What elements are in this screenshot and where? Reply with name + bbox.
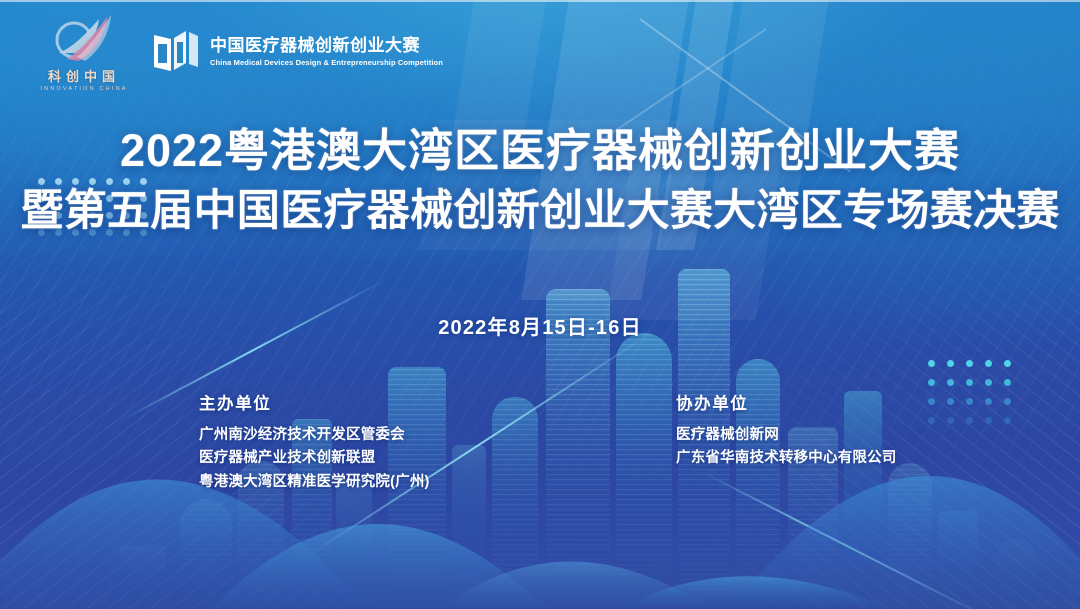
poster-canvas: 科创中国 INNOVATION CHINA 中国医疗器械创新创业大赛 China… bbox=[0, 0, 1080, 609]
logo-kechuang-en: INNOVATION CHINA bbox=[40, 86, 127, 92]
organiser-cohost-heading: 协办单位 bbox=[676, 390, 897, 414]
header-logo-bar: 科创中国 INNOVATION CHINA 中国医疗器械创新创业大赛 China… bbox=[0, 0, 1080, 104]
page-title-line2: 暨第五届中国医疗器械创新创业大赛大湾区专场赛决赛 bbox=[0, 185, 1080, 237]
open-door-window-mark-icon bbox=[152, 29, 200, 75]
organiser-host-item: 粤港澳大湾区精准医学研究院(广州) bbox=[199, 471, 430, 494]
logo-cmde-cn: 中国医疗器械创新创业大赛 bbox=[210, 36, 443, 56]
event-date: 2022年8月15日-16日 bbox=[0, 311, 1080, 340]
organiser-host-heading: 主办单位 bbox=[199, 390, 430, 414]
logo-cmde-text: 中国医疗器械创新创业大赛 China Medical Devices Desig… bbox=[210, 36, 443, 67]
title-block: 2022粤港澳大湾区医疗器械创新创业大赛 暨第五届中国医疗器械创新创业大赛大湾区… bbox=[0, 124, 1080, 237]
organiser-cohost-item: 医疗器械创新网 bbox=[676, 424, 897, 447]
organiser-host-item: 广州南沙经济技术开发区管委会 bbox=[199, 424, 430, 447]
organiser-host-column: 主办单位 广州南沙经济技术开发区管委会 医疗器械产业技术创新联盟 粤港澳大湾区精… bbox=[199, 390, 430, 494]
kechuang-bird-mark-icon bbox=[47, 13, 121, 65]
logo-kechuang-cn: 科创中国 bbox=[48, 66, 120, 85]
page-title-line1: 2022粤港澳大湾区医疗器械创新创业大赛 bbox=[0, 124, 1080, 179]
logo-cmde: 中国医疗器械创新创业大赛 China Medical Devices Desig… bbox=[152, 29, 443, 75]
organiser-cohost-item: 广东省华南技术转移中心有限公司 bbox=[676, 447, 897, 470]
organiser-host-item: 医疗器械产业技术创新联盟 bbox=[199, 447, 430, 470]
logo-kechuang: 科创中国 INNOVATION CHINA bbox=[38, 13, 130, 92]
logo-cmde-en: China Medical Devices Design & Entrepren… bbox=[210, 58, 443, 68]
dot-grid-right bbox=[928, 360, 1011, 424]
bottom-waves bbox=[0, 409, 1080, 609]
organiser-cohost-column: 协办单位 医疗器械创新网 广东省华南技术转移中心有限公司 bbox=[676, 390, 897, 471]
